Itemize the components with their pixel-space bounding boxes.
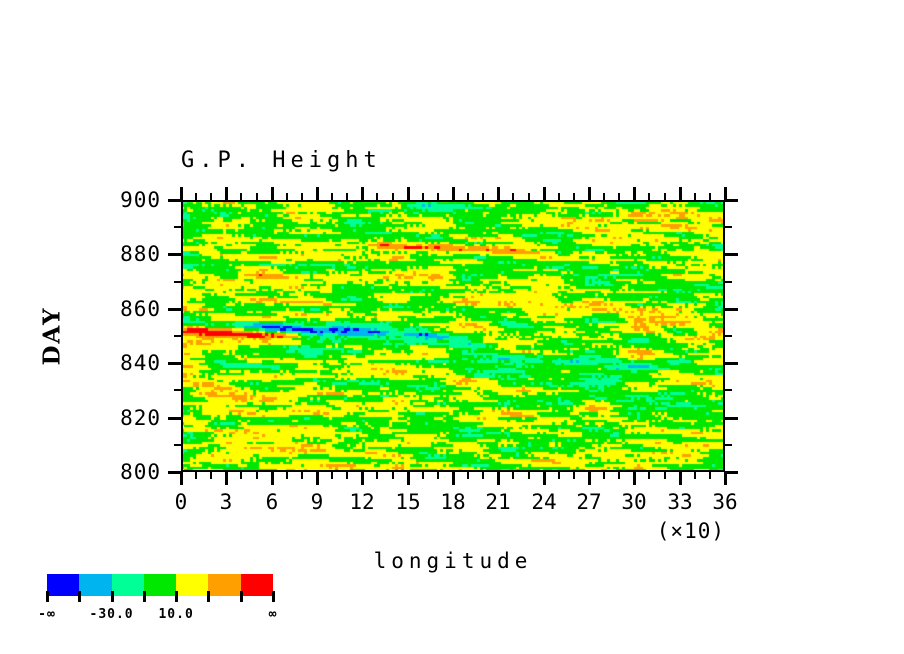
x-tick-minor [482, 472, 484, 479]
x-tick-minor [558, 472, 560, 479]
x-tick-major [497, 472, 500, 485]
x-tick-label: 3 [220, 490, 233, 514]
heatmap-plot-area [181, 200, 725, 472]
x-axis-label: longitude [374, 549, 533, 573]
x-tick-minor [301, 472, 303, 479]
x-tick-major [407, 472, 410, 485]
colorbar-tick [207, 591, 210, 602]
y-tick-major-right [725, 362, 738, 365]
y-axis-label: DAY [39, 306, 66, 365]
page-title: G.P. Height [181, 148, 382, 173]
x-tick-minor-top [331, 193, 333, 200]
x-tick-minor-top [467, 193, 469, 200]
y-tick-major [168, 417, 181, 420]
y-tick-major-right [725, 471, 738, 474]
y-tick-minor-right [725, 226, 732, 228]
x-tick-minor-top [301, 193, 303, 200]
y-tick-major-right [725, 253, 738, 256]
x-tick-minor-top [648, 193, 650, 200]
x-tick-minor [512, 472, 514, 479]
colorbar-label: -∞ [38, 607, 56, 622]
x-tick-major [588, 472, 591, 485]
y-tick-minor [174, 335, 181, 337]
x-tick-minor-top [256, 193, 258, 200]
x-tick-major-top [588, 187, 591, 200]
x-tick-major-top [543, 187, 546, 200]
heatmap-field [181, 200, 725, 472]
x-tick-minor [573, 472, 575, 479]
y-tick-minor [174, 226, 181, 228]
x-tick-minor [694, 472, 696, 479]
colorbar-label: ∞ [269, 607, 278, 622]
x-tick-major [271, 472, 274, 485]
colorbar-segment-deep-sky-blue [79, 574, 111, 596]
x-tick-minor [256, 472, 258, 479]
x-tick-minor-top [482, 193, 484, 200]
x-tick-label: 33 [667, 490, 692, 514]
y-tick-major [168, 199, 181, 202]
y-tick-label: 800 [120, 460, 161, 484]
x-tick-major [633, 472, 636, 485]
x-tick-minor [437, 472, 439, 479]
x-tick-minor-top [558, 193, 560, 200]
colorbar-tick [143, 591, 146, 602]
x-tick-major [361, 472, 364, 485]
y-tick-label: 860 [120, 297, 161, 321]
y-tick-minor-right [725, 444, 732, 446]
x-tick-minor [422, 472, 424, 479]
y-tick-minor-right [725, 335, 732, 337]
x-tick-minor-top [392, 193, 394, 200]
x-tick-major [225, 472, 228, 485]
x-tick-minor [392, 472, 394, 479]
x-tick-major-top [407, 187, 410, 200]
x-tick-minor [528, 472, 530, 479]
x-tick-label: 6 [266, 490, 279, 514]
x-tick-major-top [679, 187, 682, 200]
y-tick-major-right [725, 417, 738, 420]
colorbar-tick [272, 591, 275, 602]
x-tick-minor-top [240, 193, 242, 200]
x-tick-minor [648, 472, 650, 479]
x-tick-minor-top [346, 193, 348, 200]
y-tick-major-right [725, 308, 738, 311]
colorbar-segment-yellow [176, 574, 208, 596]
colorbar-segment-blue [47, 574, 79, 596]
x-tick-label: 12 [349, 490, 374, 514]
colorbar-tick [46, 591, 49, 602]
x-tick-label: 24 [531, 490, 556, 514]
x-tick-label: 9 [311, 490, 324, 514]
colorbar-segment-spring-green [112, 574, 144, 596]
x-tick-minor [195, 472, 197, 479]
y-tick-major-right [725, 199, 738, 202]
x-tick-minor [331, 472, 333, 479]
x-tick-minor [664, 472, 666, 479]
x-tick-minor-top [512, 193, 514, 200]
x-tick-minor [346, 472, 348, 479]
y-tick-label: 880 [120, 242, 161, 266]
x-tick-minor-top [437, 193, 439, 200]
x-tick-label: 36 [712, 490, 737, 514]
x-tick-major [543, 472, 546, 485]
x-tick-minor-top [195, 193, 197, 200]
x-tick-minor [286, 472, 288, 479]
y-tick-minor [174, 444, 181, 446]
x-tick-major [316, 472, 319, 485]
x-axis-scale-note: (×10) [657, 519, 725, 543]
y-tick-minor [174, 281, 181, 283]
y-tick-major [168, 471, 181, 474]
x-tick-label: 21 [485, 490, 510, 514]
x-tick-label: 15 [395, 490, 420, 514]
y-tick-label: 820 [120, 406, 161, 430]
x-tick-minor [709, 472, 711, 479]
x-tick-major-top [316, 187, 319, 200]
x-tick-major-top [452, 187, 455, 200]
x-tick-major [452, 472, 455, 485]
y-tick-label: 900 [120, 188, 161, 212]
y-tick-major [168, 253, 181, 256]
x-tick-major-top [225, 187, 228, 200]
x-tick-minor [376, 472, 378, 479]
x-tick-label: 18 [440, 490, 465, 514]
colorbar-tick [78, 591, 81, 602]
x-tick-minor [618, 472, 620, 479]
x-tick-minor [210, 472, 212, 479]
colorbar-tick [240, 591, 243, 602]
x-tick-minor [467, 472, 469, 479]
x-tick-major-top [271, 187, 274, 200]
colorbar-segment-red [241, 574, 273, 596]
x-tick-minor-top [422, 193, 424, 200]
x-tick-minor-top [528, 193, 530, 200]
colorbar-label: 10.0 [158, 607, 193, 622]
x-tick-minor [603, 472, 605, 479]
colorbar-label: -30.0 [89, 607, 133, 622]
colorbar-segment-orange [208, 574, 240, 596]
x-tick-major [679, 472, 682, 485]
x-tick-major-top [633, 187, 636, 200]
x-tick-minor-top [573, 193, 575, 200]
y-tick-label: 840 [120, 351, 161, 375]
x-tick-minor-top [709, 193, 711, 200]
y-tick-minor-right [725, 389, 732, 391]
x-tick-label: 27 [576, 490, 601, 514]
x-tick-minor-top [603, 193, 605, 200]
x-tick-minor [240, 472, 242, 479]
y-tick-minor-right [725, 281, 732, 283]
colorbar-tick [111, 591, 114, 602]
x-tick-major-top [361, 187, 364, 200]
x-tick-minor-top [664, 193, 666, 200]
x-tick-minor-top [210, 193, 212, 200]
x-tick-label: 0 [175, 490, 188, 514]
x-tick-minor-top [618, 193, 620, 200]
x-tick-label: 30 [621, 490, 646, 514]
y-tick-major [168, 308, 181, 311]
y-tick-minor [174, 389, 181, 391]
x-tick-minor-top [376, 193, 378, 200]
colorbar-segment-green [144, 574, 176, 596]
x-tick-minor-top [286, 193, 288, 200]
colorbar-tick [175, 591, 178, 602]
x-tick-major-top [497, 187, 500, 200]
x-tick-minor-top [694, 193, 696, 200]
y-tick-major [168, 362, 181, 365]
